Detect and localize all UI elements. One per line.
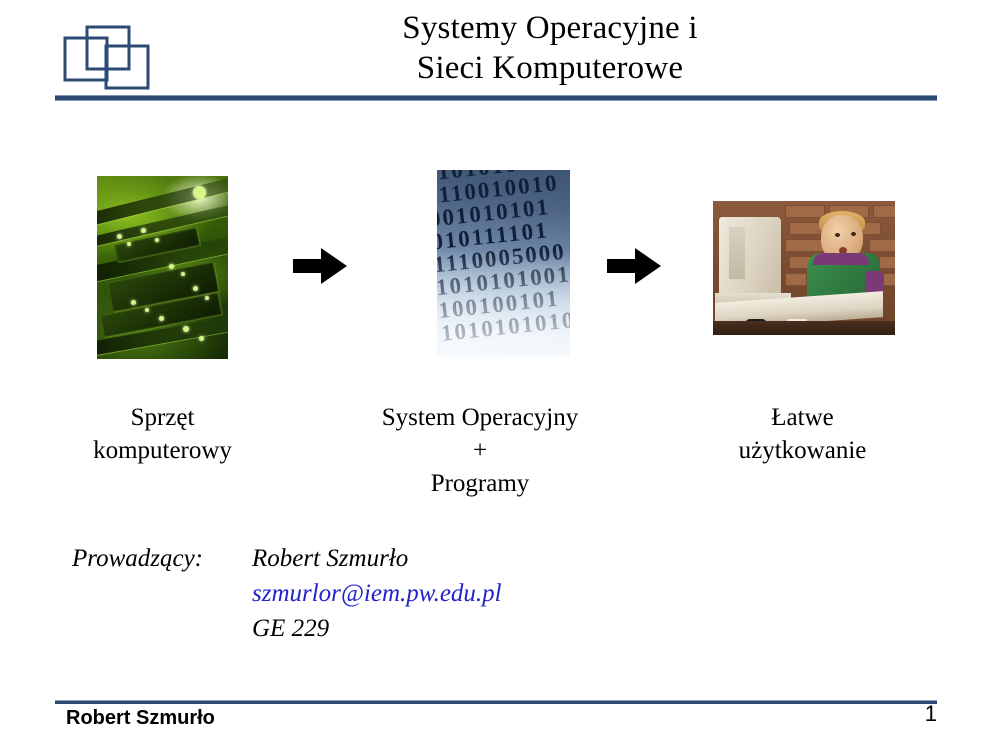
crt-monitor [719,217,781,295]
title-line-1: Systemy Operacyjne i [200,8,900,48]
binary-digit-rows: 0101010111001001000101010101011110111100… [437,170,570,345]
caption-user-line-2: użytkowanie [675,434,930,467]
footer-page-number: 1 [925,701,937,727]
caption-easy-use: Łatwe użytkowanie [675,401,930,467]
caption-os-line-3: Programy [345,467,615,500]
title-line-2: Sieci Komputerowe [200,48,900,88]
instructor-label: Prowadzący: [72,541,203,576]
caption-hardware-line-1: Sprzęt [35,401,290,434]
page-title: Systemy Operacyjne i Sieci Komputerowe [200,8,900,88]
instructor-details: Robert Szmurło szmurlor@iem.pw.edu.pl GE… [252,541,502,646]
footer-author: Robert Szmurło [66,707,215,730]
instructor-name: Robert Szmurło [252,541,502,576]
caption-hardware: Sprzęt komputerowy [35,401,290,467]
header-divider [55,95,937,101]
arrow-right-1-icon [291,245,349,287]
caption-os-line-1: System Operacyjny [345,401,615,434]
instructor-email[interactable]: szmurlor@iem.pw.edu.pl [252,576,502,611]
footer-divider [55,700,937,704]
arrow-right-2-icon [605,245,663,287]
caption-os-line-2: + [345,434,615,467]
instructor-room: GE 229 [252,611,502,646]
binary-digits-photo: 0101010111001001000101010101011110111100… [437,170,570,357]
computer-hardware-circuit-board-photo [97,176,228,359]
caption-hardware-line-2: komputerowy [35,434,290,467]
slide-canvas: Systemy Operacyjne i Sieci Komputerowe [0,0,992,743]
caption-user-line-1: Łatwe [675,401,930,434]
caption-operating-system: System Operacyjny + Programy [345,401,615,500]
child-using-computer-photo [713,201,895,335]
overlapping-squares-logo [62,24,154,94]
